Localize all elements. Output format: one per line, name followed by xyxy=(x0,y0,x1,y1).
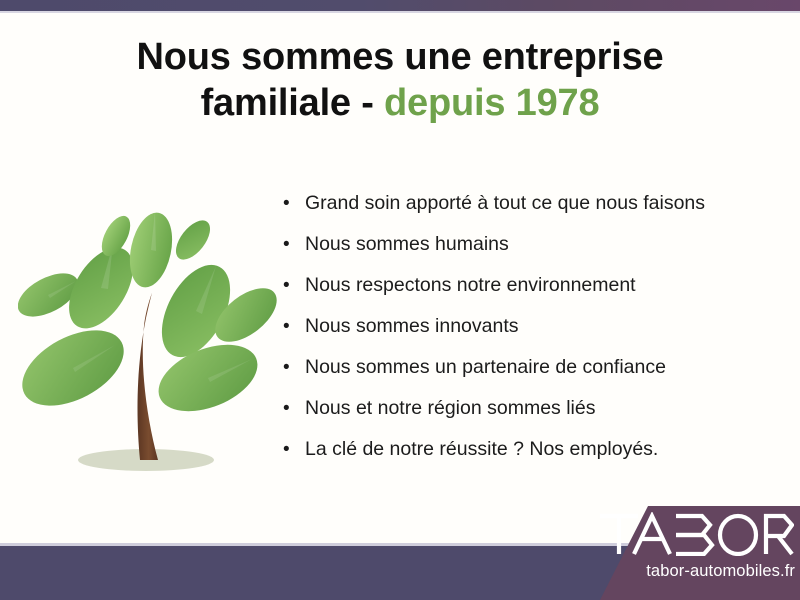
bullet-text: Nous sommes innovants xyxy=(305,313,519,340)
title-line-1: Nous sommes une entreprise xyxy=(0,34,800,80)
list-item: • Nous sommes un partenaire de confiance xyxy=(283,354,783,395)
title-line-2-main: familiale - xyxy=(201,82,384,124)
bullet-text: Grand soin apporté à tout ce que nous fa… xyxy=(305,190,705,217)
bullet-marker-icon: • xyxy=(283,395,305,422)
bullet-marker-icon: • xyxy=(283,231,305,258)
bullet-marker-icon: • xyxy=(283,272,305,299)
list-item: • Nous et notre région sommes liés xyxy=(283,395,783,436)
bullet-text: Nous respectons notre environnement xyxy=(305,272,636,299)
bullet-text: Nous et notre région sommes liés xyxy=(305,395,595,422)
list-item: • Nous respectons notre environnement xyxy=(283,272,783,313)
list-item: • Grand soin apporté à tout ce que nous … xyxy=(283,190,783,231)
bullet-marker-icon: • xyxy=(283,313,305,340)
title-accent-year: depuis 1978 xyxy=(384,82,599,124)
tabor-logo[interactable] xyxy=(598,512,794,556)
bullet-marker-icon: • xyxy=(283,190,305,217)
bullet-marker-icon: • xyxy=(283,354,305,381)
title-line-2: familiale - depuis 1978 xyxy=(0,80,800,126)
top-gradient-band xyxy=(0,0,800,11)
bullet-text: Nous sommes humains xyxy=(305,231,509,258)
list-item: • Nous sommes humains xyxy=(283,231,783,272)
bullet-list: • Grand soin apporté à tout ce que nous … xyxy=(283,190,783,477)
tree-icon xyxy=(18,188,283,493)
slide-root: Nous sommes une entreprise familiale - d… xyxy=(0,0,800,600)
tree-leaves xyxy=(18,209,283,425)
bullet-text: La clé de notre réussite ? Nos employés. xyxy=(305,436,658,463)
tree-trunk xyxy=(138,293,158,460)
page-title: Nous sommes une entreprise familiale - d… xyxy=(0,34,800,127)
top-band-hairline xyxy=(0,11,800,13)
bullet-text: Nous sommes un partenaire de confiance xyxy=(305,354,666,381)
bullet-marker-icon: • xyxy=(283,436,305,463)
logo-url[interactable]: tabor-automobiles.fr xyxy=(540,562,800,581)
list-item: • Nous sommes innovants xyxy=(283,313,783,354)
list-item: • La clé de notre réussite ? Nos employé… xyxy=(283,436,783,477)
